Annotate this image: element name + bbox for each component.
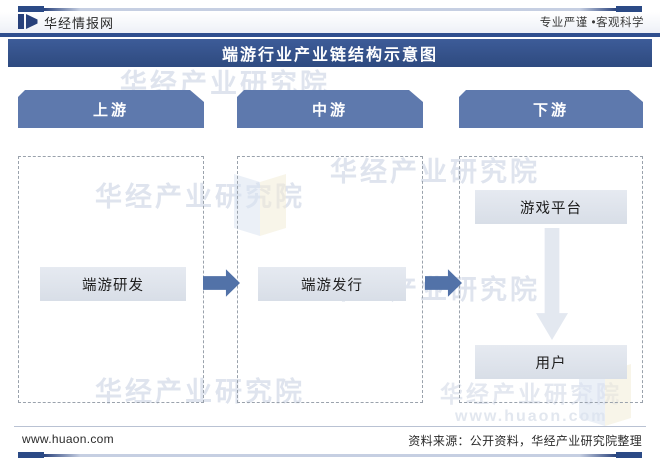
node-upstream-rnd: 端游研发 xyxy=(40,267,186,301)
header-top-rule xyxy=(18,8,642,11)
node-midstream-publishing: 端游发行 xyxy=(258,267,406,301)
arrow-right-icon xyxy=(203,268,240,298)
header-rule-cap-left xyxy=(18,6,44,12)
node-label: 端游发行 xyxy=(301,274,363,295)
book-logo-icon xyxy=(18,14,38,29)
column-header-downstream: 下游 xyxy=(459,90,643,128)
footer-rule xyxy=(18,454,642,457)
footer-divider xyxy=(14,426,646,427)
infographic-page: 华经产业研究院 华经产业研究院 华经产业研究院 华经产业研究院 华经产业研究院 … xyxy=(0,0,660,465)
brand-name: 华经情报网 xyxy=(44,13,114,32)
column-header-label: 下游 xyxy=(533,99,569,120)
node-label: 游戏平台 xyxy=(520,197,582,218)
chart-title-banner: 端游行业产业链结构示意图 xyxy=(8,39,652,67)
footer-website[interactable]: www.huaon.com xyxy=(22,432,114,446)
node-label: 端游研发 xyxy=(82,274,144,295)
footer-source-note: 资料来源：公开资料，华经产业研究院整理 xyxy=(408,432,642,449)
watermark-url: www.huaon.com xyxy=(455,408,608,426)
node-downstream-user: 用户 xyxy=(475,345,627,379)
header-rule-cap-right xyxy=(616,6,642,12)
node-label: 用户 xyxy=(536,352,567,373)
column-header-label: 中游 xyxy=(312,99,348,120)
header-tagline: 专业严谨 •客观科学 xyxy=(540,14,644,30)
arrow-right-icon xyxy=(425,268,462,298)
page-title: 端游行业产业链结构示意图 xyxy=(222,41,438,65)
column-header-upstream: 上游 xyxy=(18,90,204,128)
column-header-label: 上游 xyxy=(93,99,129,120)
column-header-midstream: 中游 xyxy=(237,90,423,128)
footer-rule-cap-right xyxy=(616,452,642,458)
header-underline xyxy=(0,33,660,37)
node-downstream-platform: 游戏平台 xyxy=(475,190,627,224)
footer-rule-cap-left xyxy=(18,452,44,458)
